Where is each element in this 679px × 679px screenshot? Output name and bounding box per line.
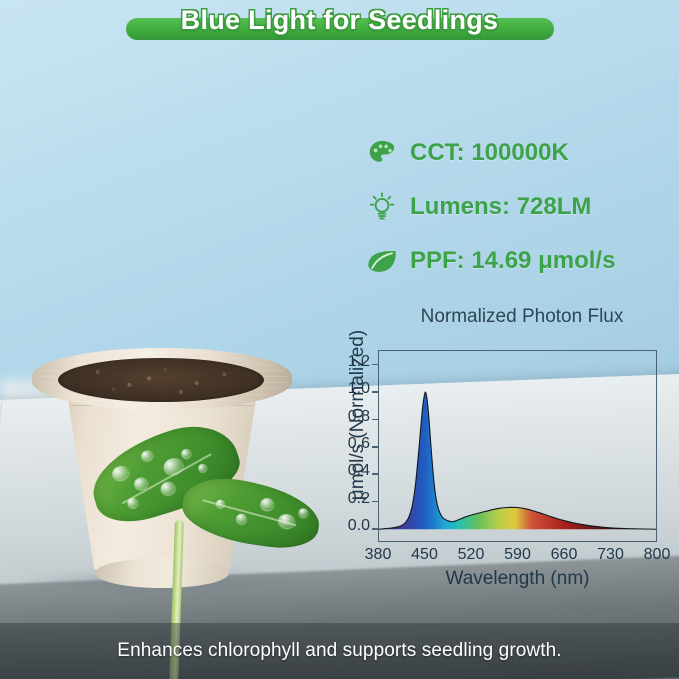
chart-x-axis-label: Wavelength (nm) [378, 568, 657, 590]
dew-drop [180, 448, 192, 460]
dew-drop [126, 496, 139, 509]
leaf-icon [366, 245, 398, 277]
dew-drop [298, 507, 309, 517]
chart-x-tick-label: 380 [356, 546, 400, 564]
spec-row-ppf: PPF: 14.69 μmol/s [366, 234, 666, 288]
chart-y-tick-label: 1.0 [326, 380, 370, 398]
spectrum-fill [379, 392, 657, 529]
dew-drop [110, 464, 130, 482]
caption-bar: Enhances chlorophyll and supports seedli… [0, 623, 679, 679]
dew-drop [161, 455, 185, 476]
spectrum-curve [379, 351, 657, 542]
chart-x-tick-label: 450 [403, 546, 447, 564]
caption-text: Enhances chlorophyll and supports seedli… [117, 640, 561, 662]
chart-x-tick-label: 800 [635, 546, 679, 564]
spec-row-lumens: Lumens: 728LM [366, 180, 666, 234]
chart-y-tick-label: 0.8 [326, 408, 370, 426]
chart-y-tick-label: 0.4 [326, 462, 370, 480]
chart-y-tick-label: 0.0 [326, 517, 370, 535]
dew-drop [197, 462, 208, 472]
chart-x-tick-label: 520 [449, 546, 493, 564]
chart-x-tick-label: 660 [542, 546, 586, 564]
soil [62, 360, 260, 400]
chart-y-tick-label: 0.2 [326, 490, 370, 508]
chart-title: Normalized Photon Flux [376, 306, 668, 328]
spectrum-chart: Normalized Photon Flux μmol/s (Normalize… [312, 306, 668, 588]
dew-drop [260, 497, 276, 511]
spec-row-cct: CCT: 100000K [366, 126, 666, 180]
dew-drop [140, 449, 154, 462]
chart-y-tick-label: 0.6 [326, 435, 370, 453]
spec-list: CCT: 100000K Lumens: 728LM [366, 126, 666, 288]
palette-icon [366, 137, 398, 169]
dew-drop [277, 513, 296, 529]
chart-plot-area [378, 350, 657, 542]
spec-label-lumens: Lumens: 728LM [410, 193, 591, 221]
title-text: Blue Light for Seedlings [126, 5, 554, 36]
dew-drop [159, 480, 177, 497]
page-title: Blue Light for Seedlings [0, 18, 679, 40]
chart-x-tick-label: 730 [589, 546, 633, 564]
chart-y-tick-label: 1.2 [326, 353, 370, 371]
chart-x-tick-label: 590 [496, 546, 540, 564]
flower-pot [26, 330, 298, 582]
spec-label-cct: CCT: 100000K [410, 139, 569, 167]
spec-label-ppf: PPF: 14.69 μmol/s [410, 247, 615, 275]
title-underline-bar: Blue Light for Seedlings [126, 18, 554, 40]
dew-drop [236, 514, 248, 525]
lightbulb-icon [366, 191, 398, 223]
pot-base [95, 558, 229, 588]
